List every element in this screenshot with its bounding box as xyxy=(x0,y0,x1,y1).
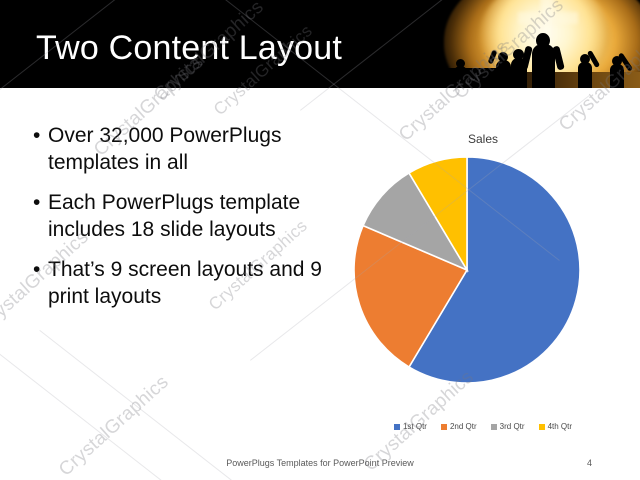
footer-label: PowerPlugs Templates for PowerPoint Prev… xyxy=(0,458,640,468)
legend-item-4th-qtr[interactable]: 4th Qtr xyxy=(539,422,572,431)
chart-legend: 1st Qtr2nd Qtr3rd Qtr4th Qtr xyxy=(338,422,628,431)
banner-artwork xyxy=(410,0,640,88)
bullet-icon: • xyxy=(33,189,48,216)
page-number: 4 xyxy=(587,458,592,468)
person-silhouette-main xyxy=(532,44,555,88)
content-placeholder-right-chart: Sales 1st Qtr2nd Qtr3rd Qtr4th Qtr xyxy=(338,128,628,433)
list-item: • Over 32,000 PowerPlugs templates in al… xyxy=(33,122,333,176)
person-silhouette-2 xyxy=(496,60,511,88)
pie-chart-svg xyxy=(353,156,581,384)
legend-swatch-icon xyxy=(491,424,497,430)
person-silhouette-5 xyxy=(610,64,624,88)
bullet-icon: • xyxy=(33,256,48,283)
list-item: • That’s 9 screen layouts and 9 print la… xyxy=(33,256,333,310)
legend-swatch-icon xyxy=(394,424,400,430)
legend-swatch-icon xyxy=(441,424,447,430)
content-placeholder-left: • Over 32,000 PowerPlugs templates in al… xyxy=(33,122,333,323)
person-head-main xyxy=(536,33,550,48)
title-banner: Two Content Layout xyxy=(0,0,640,88)
legend-label: 1st Qtr xyxy=(403,422,427,431)
legend-label: 2nd Qtr xyxy=(450,422,477,431)
legend-item-1st-qtr[interactable]: 1st Qtr xyxy=(394,422,427,431)
legend-item-3rd-qtr[interactable]: 3rd Qtr xyxy=(491,422,525,431)
person-silhouette-4 xyxy=(578,62,592,88)
person-silhouette-1 xyxy=(454,66,467,88)
chart-title: Sales xyxy=(338,132,628,146)
list-item-text: That’s 9 screen layouts and 9 print layo… xyxy=(48,256,333,310)
person-head-1 xyxy=(456,59,465,68)
legend-label: 3rd Qtr xyxy=(500,422,525,431)
slide-canvas: Two Content Layout • Over 32,000 PowerPl… xyxy=(0,0,640,480)
legend-item-2nd-qtr[interactable]: 2nd Qtr xyxy=(441,422,477,431)
list-item: • Each PowerPlugs template includes 18 s… xyxy=(33,189,333,243)
page-title: Two Content Layout xyxy=(36,29,342,68)
legend-label: 4th Qtr xyxy=(548,422,572,431)
person-head-2 xyxy=(498,52,508,62)
bullet-icon: • xyxy=(33,122,48,149)
list-item-text: Each PowerPlugs template includes 18 sli… xyxy=(48,189,333,243)
pie-chart xyxy=(353,156,581,384)
legend-swatch-icon xyxy=(539,424,545,430)
list-item-text: Over 32,000 PowerPlugs templates in all xyxy=(48,122,333,176)
